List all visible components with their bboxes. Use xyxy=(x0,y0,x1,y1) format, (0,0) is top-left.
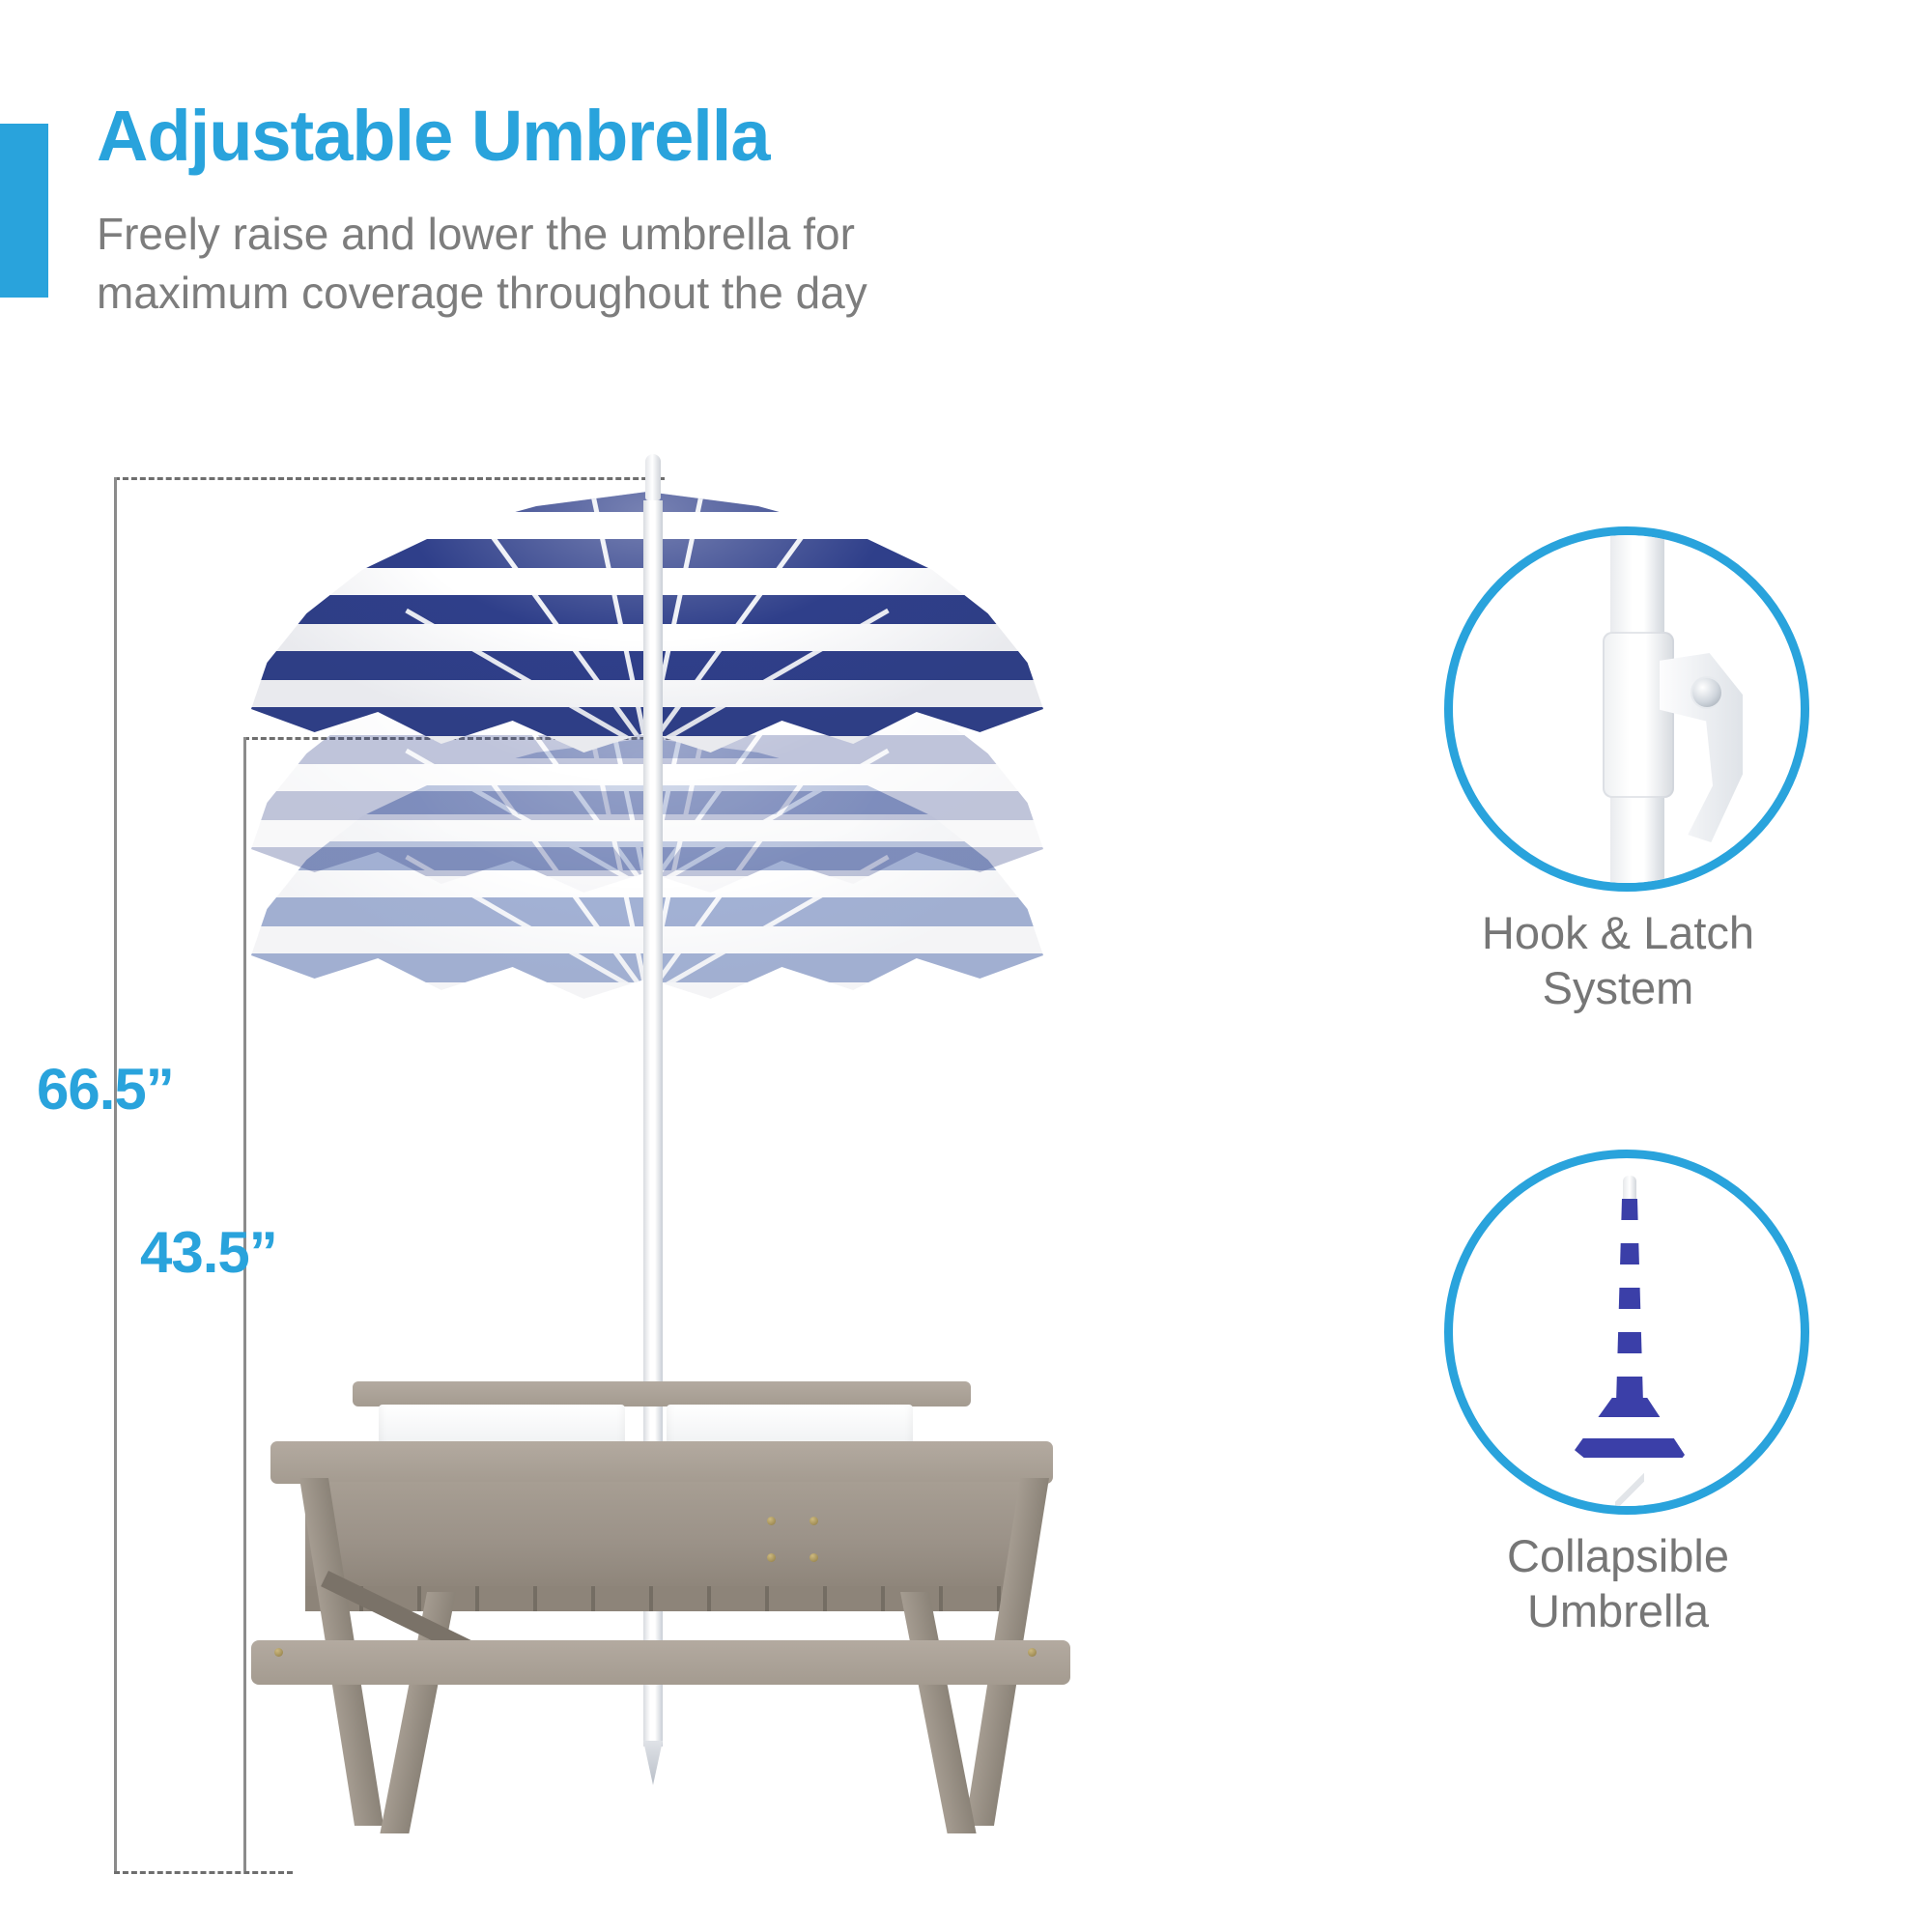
infographic-canvas: Adjustable Umbrella Freely raise and low… xyxy=(0,0,1932,1932)
dimension-label-overall-height: 66.5” xyxy=(37,1056,174,1122)
tabletop-panel-rear[interactable] xyxy=(353,1381,971,1406)
dimension-line-overall xyxy=(114,477,117,1871)
callout-circle-hook-latch xyxy=(1444,526,1809,892)
folded-canopy-icon xyxy=(1605,1199,1654,1404)
header-accent-bar xyxy=(0,124,48,298)
latch-collar-icon xyxy=(1603,632,1674,798)
umbrella-finial-icon xyxy=(1623,1176,1636,1201)
table-leg-rear-right xyxy=(900,1592,977,1833)
product-illustration xyxy=(193,454,1121,1884)
picnic-table xyxy=(213,1381,1101,1864)
page-subtitle: Freely raise and lower the umbrella for … xyxy=(97,205,867,322)
collapsed-umbrella-pole-icon xyxy=(1615,1465,1644,1515)
table-apron xyxy=(305,1482,1020,1592)
rivet-icon xyxy=(1692,678,1721,707)
umbrella-finial xyxy=(645,454,661,500)
callout-label-collapsible-umbrella: Collapsible Umbrella xyxy=(1391,1528,1845,1639)
tabletop-panel-front[interactable] xyxy=(270,1441,1053,1484)
bench-seat xyxy=(251,1640,1070,1685)
page-title: Adjustable Umbrella xyxy=(97,100,770,172)
callout-circle-collapsible-umbrella xyxy=(1444,1150,1809,1515)
callout-label-hook-latch: Hook & Latch System xyxy=(1391,905,1845,1016)
